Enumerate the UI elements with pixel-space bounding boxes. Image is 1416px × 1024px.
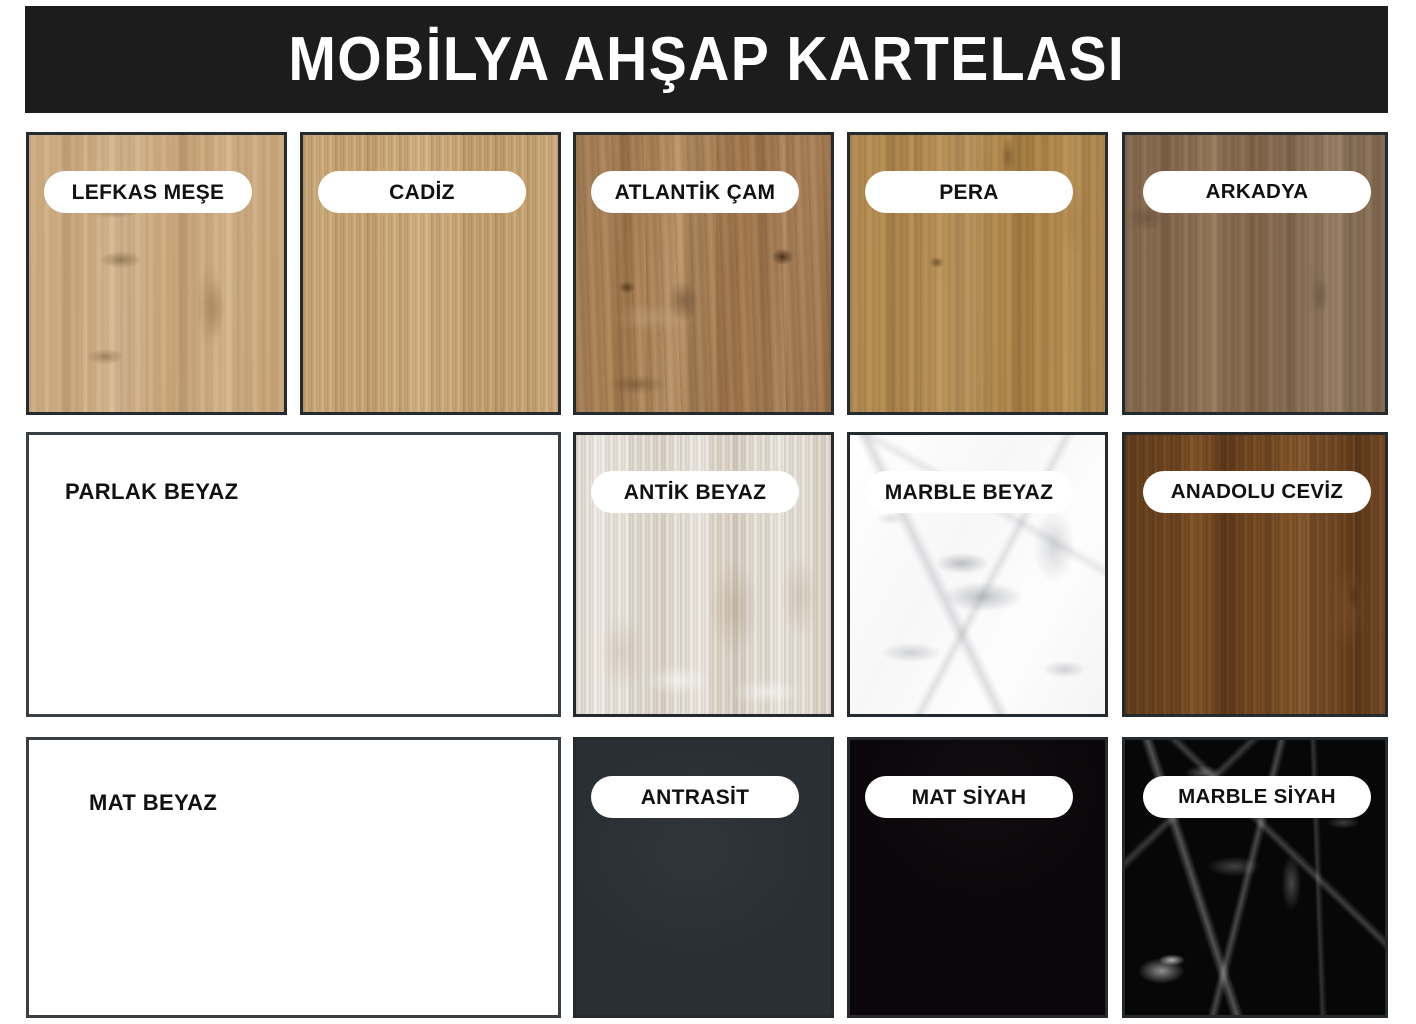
swatch-label-text: ANTRASİT <box>641 787 750 808</box>
swatch-label-text: MARBLE BEYAZ <box>885 482 1054 503</box>
swatch-label-text: MAT BEYAZ <box>89 790 217 816</box>
swatch-antik-beyaz[interactable]: ANTİK BEYAZ <box>573 432 834 717</box>
swatch-cadiz[interactable]: CADİZ <box>300 132 561 415</box>
wood-catalog-page: MOBİLYA AHŞAP KARTELASI LEFKAS MEŞE CADİ… <box>0 0 1416 1024</box>
page-title: MOBİLYA AHŞAP KARTELASI <box>288 29 1125 91</box>
swatch-label-text: LEFKAS MEŞE <box>72 182 225 203</box>
swatch-pera[interactable]: PERA <box>847 132 1108 415</box>
swatch-label-text: ARKADYA <box>1206 182 1309 203</box>
swatch-label-text: CADİZ <box>389 182 455 203</box>
swatch-label-pill: ARKADYA <box>1143 171 1371 213</box>
swatch-atlantik-cam[interactable]: ATLANTİK ÇAM <box>573 132 834 415</box>
swatch-label-pill: ANADOLU CEVİZ <box>1143 471 1371 513</box>
swatch-label-text: ANADOLU CEVİZ <box>1171 482 1343 503</box>
swatch-grid: LEFKAS MEŞE CADİZ ATLANTİK ÇAM PERA <box>26 132 1388 1018</box>
swatch-label-pill: ANTİK BEYAZ <box>591 471 799 513</box>
swatch-label-pill: CADİZ <box>318 171 526 213</box>
swatch-label-text: ANTİK BEYAZ <box>624 482 767 503</box>
swatch-label-text: ATLANTİK ÇAM <box>615 182 776 203</box>
swatch-antrasit[interactable]: ANTRASİT <box>573 737 834 1018</box>
swatch-label-text: PARLAK BEYAZ <box>65 479 239 505</box>
swatch-label-pill: MAT SİYAH <box>865 776 1073 818</box>
swatch-mat-siyah[interactable]: MAT SİYAH <box>847 737 1108 1018</box>
swatch-label-text: MARBLE SİYAH <box>1178 787 1336 808</box>
swatch-lefkas-mese[interactable]: LEFKAS MEŞE <box>26 132 287 415</box>
swatch-label-pill: MARBLE SİYAH <box>1143 776 1371 818</box>
swatch-marble-siyah[interactable]: MARBLE SİYAH <box>1122 737 1388 1018</box>
swatch-marble-beyaz[interactable]: MARBLE BEYAZ <box>847 432 1108 717</box>
swatch-label-pill: ATLANTİK ÇAM <box>591 171 799 213</box>
swatch-arkadya[interactable]: ARKADYA <box>1122 132 1388 415</box>
swatch-parlak-beyaz[interactable]: PARLAK BEYAZ <box>26 432 561 717</box>
header-banner: MOBİLYA AHŞAP KARTELASI <box>25 6 1388 113</box>
swatch-label-pill: ANTRASİT <box>591 776 799 818</box>
swatch-mat-beyaz[interactable]: MAT BEYAZ <box>26 737 561 1018</box>
swatch-label-text: PERA <box>939 182 999 203</box>
swatch-label-pill: PERA <box>865 171 1073 213</box>
swatch-label-pill: LEFKAS MEŞE <box>44 171 252 213</box>
swatch-label-text: MAT SİYAH <box>912 787 1027 808</box>
swatch-label-pill: MARBLE BEYAZ <box>865 471 1073 513</box>
swatch-anadolu-ceviz[interactable]: ANADOLU CEVİZ <box>1122 432 1388 717</box>
